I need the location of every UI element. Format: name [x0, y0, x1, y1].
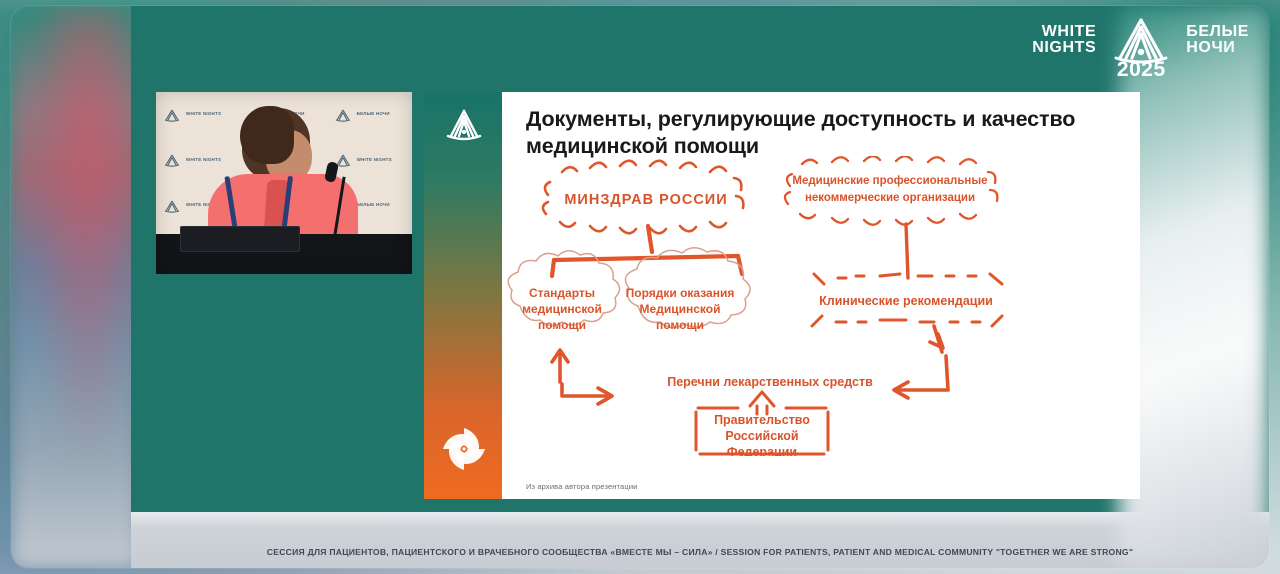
logo-nights: NIGHTS — [1032, 40, 1096, 56]
slide-content: Документы, регулирующие доступность и ка… — [502, 92, 1140, 499]
event-logo: WHITE NIGHTS — [1032, 14, 1249, 66]
slide-side-rail — [424, 92, 502, 499]
node-mpno-label-line1: Медицинские профессиональные — [792, 175, 987, 187]
logo-white: WHITE — [1032, 24, 1096, 40]
node-mpno-label-line2: некоммерческие организации — [805, 192, 975, 204]
logo-text-en: WHITE NIGHTS — [1032, 24, 1096, 57]
edge-pravitelstvo-to-perechni — [750, 392, 774, 414]
node-pravitelstvo-label-line1: Правительство — [714, 413, 810, 427]
logo-nochi: НОЧИ — [1186, 40, 1249, 56]
node-poryadki-label-line1: Порядки оказания — [626, 286, 735, 300]
edge-mpno-to-klinrek — [906, 224, 908, 278]
presentation-slide[interactable]: Документы, регулирующие доступность и ка… — [424, 92, 1140, 499]
logo-text-ru: БЕЛЫЕ НОЧИ — [1186, 24, 1249, 57]
speaker-video-tile[interactable]: WHITE NIGHTS БЕЛЫЕ НОЧИ БЕЛЫЕ НОЧИ — [156, 92, 412, 274]
node-poryadki-label-line2: Медицинской — [640, 302, 721, 316]
right-blur-column — [1119, 6, 1269, 568]
node-mpno-cloud — [785, 156, 997, 225]
slide-title: Документы, регулирующие доступность и ка… — [526, 106, 1086, 160]
node-perechni-label: Перечни лекарственных средств — [667, 375, 873, 389]
white-nights-arch-icon — [442, 108, 486, 142]
white-nights-arch-icon: 2025 — [1104, 14, 1178, 66]
logo-belye: БЕЛЫЕ — [1186, 24, 1249, 40]
logo-year: 2025 — [1117, 58, 1166, 82]
edge-perechni-to-standarty — [552, 350, 612, 404]
node-standarty-label-line1: Стандарты — [529, 286, 595, 300]
node-klinrek-label: Клинические рекомендации — [819, 294, 993, 308]
screen-root: WHITE NIGHTS — [0, 0, 1280, 574]
edge-klinrek-to-perechni — [894, 326, 948, 398]
left-blur-accent — [11, 6, 139, 568]
node-pravitelstvo-label-line3: Федерации — [727, 445, 797, 456]
broadcast-frame: WHITE NIGHTS — [11, 6, 1269, 568]
slide-diagram: .ink { stroke:#e0562a; fill:none; stroke… — [502, 156, 1140, 456]
node-minzdrav-label: МИНЗДРАВ РОССИИ — [564, 192, 727, 208]
session-caption-bar: СЕССИЯ ДЛЯ ПАЦИЕНТОВ, ПАЦИЕНТСКОГО И ВРА… — [131, 536, 1269, 568]
node-poryadki-label-line3: помощи — [656, 318, 704, 332]
video-vignette — [156, 92, 412, 274]
session-caption-text: СЕССИЯ ДЛЯ ПАЦИЕНТОВ, ПАЦИЕНТСКОГО И ВРА… — [267, 547, 1133, 557]
slide-source-note: Из архива автора презентации — [526, 482, 638, 491]
spiral-swirl-icon — [440, 425, 488, 473]
node-standarty-label-line3: помощи — [538, 318, 586, 332]
node-standarty-label-line2: медицинской — [522, 302, 602, 316]
node-pravitelstvo-label-line2: Российской — [725, 429, 798, 443]
